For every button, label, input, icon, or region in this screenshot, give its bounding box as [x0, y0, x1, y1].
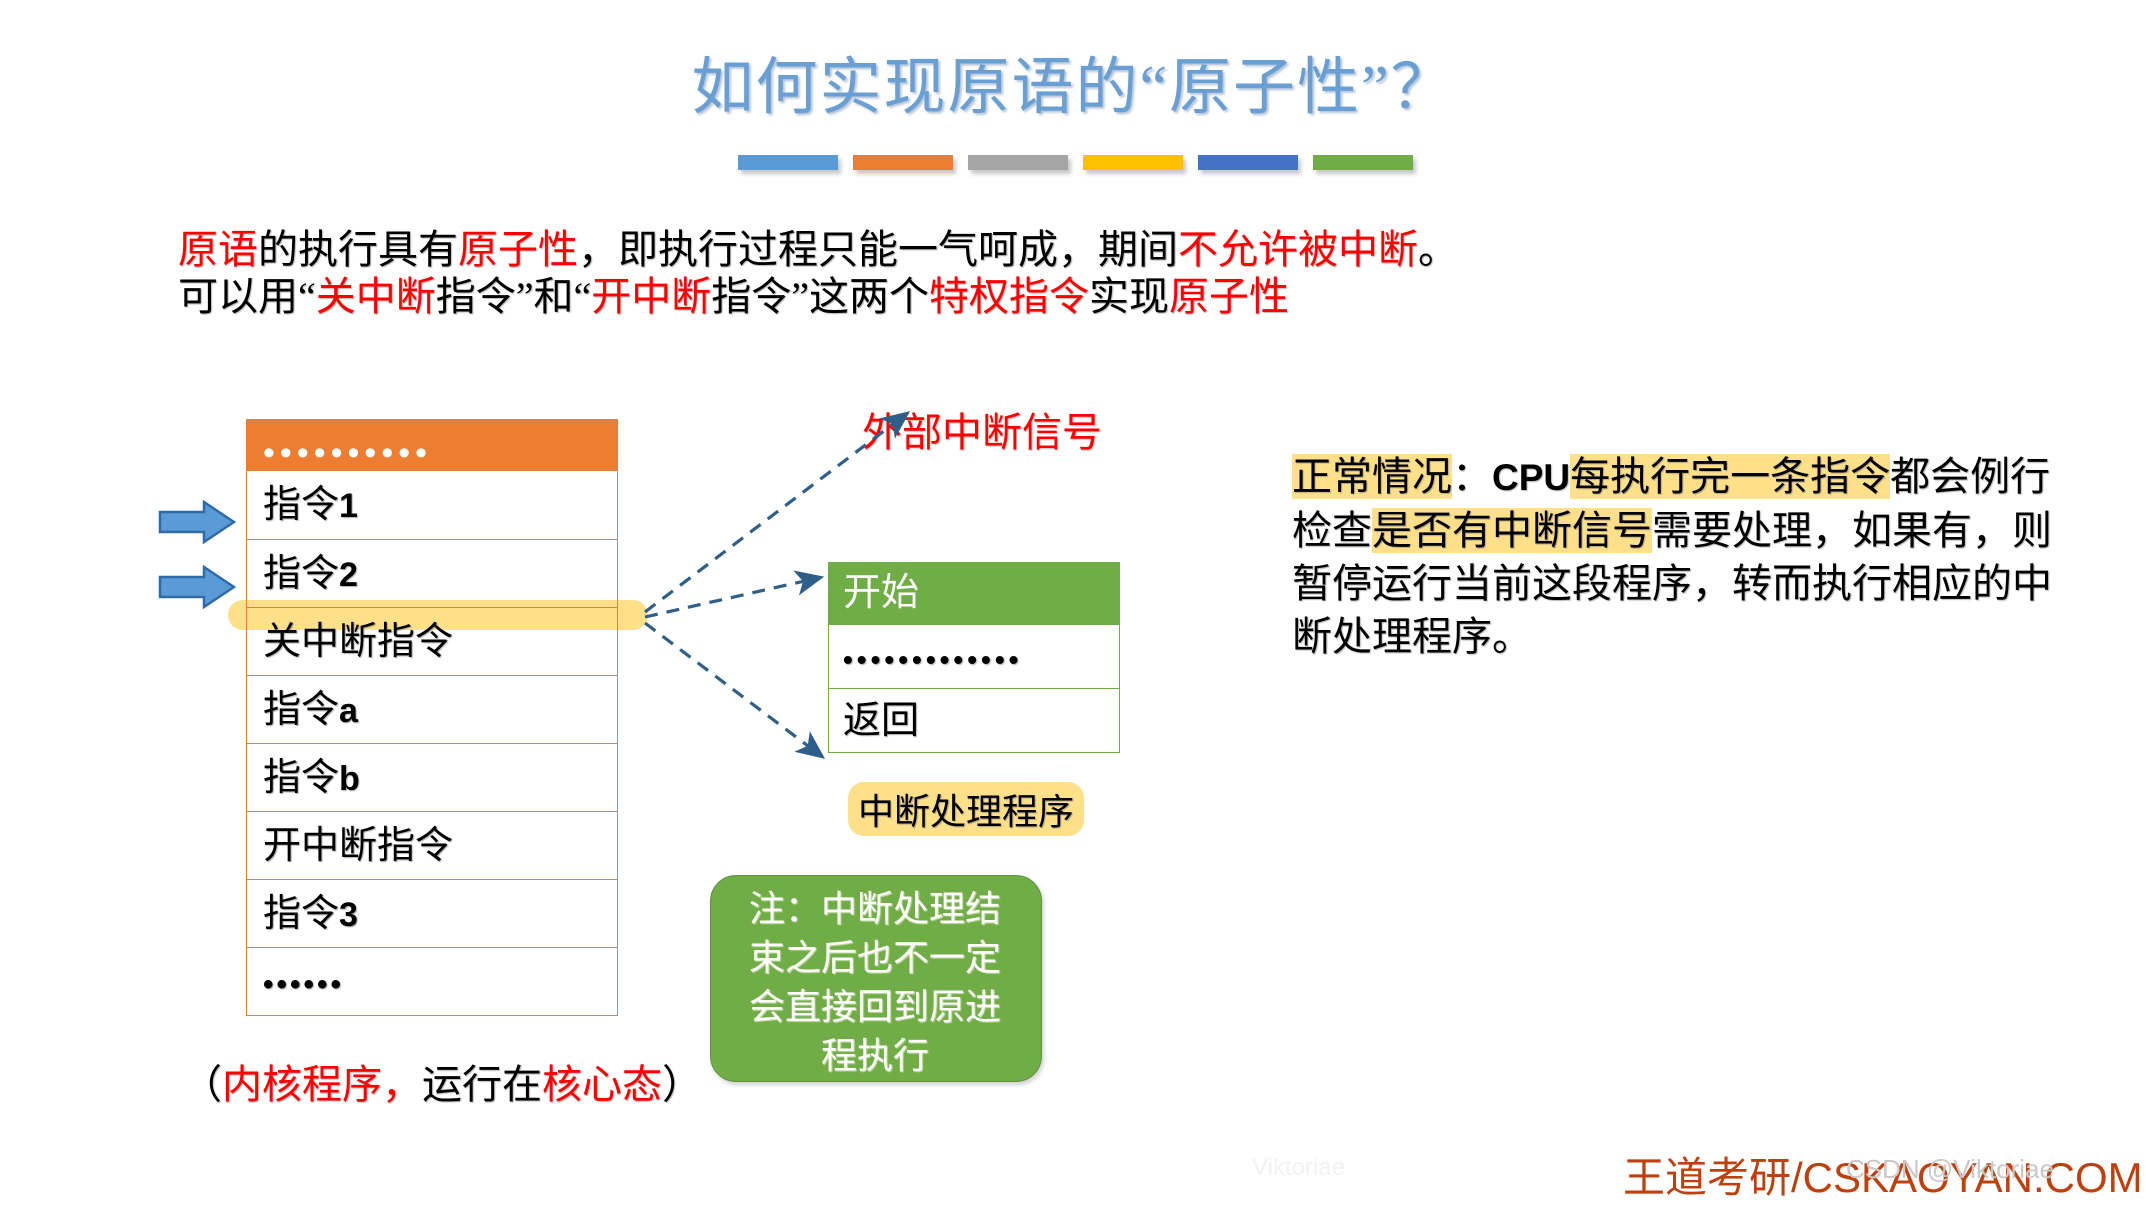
- explanation-paragraph: 正常情况：CPU每执行完一条指令都会例行检查是否有中断信号需要处理，如果有，则暂…: [1292, 450, 2052, 663]
- body-paragraph: 原语的执行具有原子性，即执行过程只能一气呵成，期间不允许被中断。 可以用“关中断…: [178, 226, 1518, 320]
- note-line-3: 程执行: [710, 1032, 1040, 1081]
- instruction-row: 指令1: [247, 471, 617, 539]
- text-run-1: 关中断: [316, 274, 436, 319]
- csdn-watermark: CSDN @Viktoriae: [1846, 1154, 2054, 1185]
- process-table-caption: （内核程序，运行在核心态）: [182, 1052, 702, 1110]
- row-ellipsis: •••••••••••••: [843, 644, 1022, 675]
- text-run-4: 不允许被中断: [1178, 227, 1418, 272]
- instruction-index: a: [339, 692, 358, 730]
- highlighted-text-run: 每执行完一条指令: [1570, 454, 1890, 499]
- instruction-row: 指令b: [247, 743, 617, 811]
- highlighted-text-run: 正常情况: [1292, 454, 1452, 499]
- instruction-index: 3: [339, 896, 358, 934]
- bar-gray: [968, 155, 1068, 170]
- instruction-label: 关中断指令: [263, 621, 453, 663]
- instruction-label: 开中断指令: [263, 825, 453, 867]
- page-title: 如何实现原语的“原子性”？: [0, 36, 2146, 126]
- text-run-1: 内核程序，: [222, 1062, 422, 1107]
- instruction-row: 指令3: [247, 879, 617, 947]
- text-run-4: 指令”这两个: [711, 274, 929, 319]
- note-line-0: 注：中断处理结: [710, 885, 1040, 934]
- bar-darkblue: [1198, 155, 1298, 170]
- bar-yellow: [1083, 155, 1183, 170]
- instruction-row: ••••••: [247, 947, 617, 1015]
- instruction-index: b: [339, 760, 360, 798]
- pointer-arrow-instruction-1: [158, 500, 236, 544]
- note-line-1: 束之后也不一定: [710, 934, 1040, 983]
- text-run-1: 的执行具有: [258, 227, 458, 272]
- accent-bar-row: [738, 155, 1398, 173]
- handler-table-caption: 中断处理程序: [848, 782, 1084, 836]
- bar-green: [1313, 155, 1413, 170]
- text-run-2: 指令”和“: [436, 274, 592, 319]
- instruction-label: 指令: [263, 757, 339, 799]
- instruction-label: 指令: [263, 484, 339, 526]
- highlighted-text-run: 是否有中断信号: [1372, 508, 1652, 553]
- instruction-row: 指令a: [247, 675, 617, 743]
- process-table-header: ••••••••••: [247, 419, 617, 471]
- instruction-row: 关中断指令: [247, 607, 617, 675]
- text-run-3: 开中断: [591, 274, 711, 319]
- dashed-arrow-to-note-bubble: [645, 623, 820, 755]
- text-run-4: ）: [662, 1062, 702, 1107]
- text-run-7: 原子性: [1169, 274, 1289, 319]
- text-run-5: 特权指令: [929, 274, 1089, 319]
- text-run-5: 。: [1418, 227, 1458, 272]
- bar-orange: [853, 155, 953, 170]
- slide-canvas: 如何实现原语的“原子性”？ 原语的执行具有原子性，即执行过程只能一气呵成，期间不…: [0, 0, 2146, 1196]
- handler-label: 返回: [843, 700, 919, 742]
- dashed-arrow-to-handler-table: [645, 578, 818, 617]
- handler-row: •••••••••••••: [829, 624, 1119, 688]
- text-run-1: ：: [1452, 454, 1492, 499]
- instruction-index: 1: [339, 487, 358, 525]
- text-run-2: 原子性: [458, 227, 578, 272]
- instruction-label: 指令: [263, 893, 339, 935]
- process-instruction-table: •••••••••• 指令1指令2关中断指令指令a指令b开中断指令指令3••••…: [246, 419, 618, 1016]
- pointer-arrow-instruction-2: [158, 565, 236, 609]
- body-line-2: 可以用“关中断指令”和“开中断指令”这两个特权指令实现原子性: [178, 273, 1518, 320]
- external-interrupt-signal-label: 外部中断信号: [862, 400, 1102, 458]
- body-line-1: 原语的执行具有原子性，即执行过程只能一气呵成，期间不允许被中断。: [178, 226, 1518, 273]
- text-run-3: 核心态: [542, 1062, 662, 1107]
- note-line-2: 会直接回到原进: [710, 983, 1040, 1032]
- instruction-row: 开中断指令: [247, 811, 617, 879]
- text-run-0: 可以用“: [178, 274, 316, 319]
- text-run-2: CPU: [1492, 457, 1570, 498]
- note-bubble-text: 注：中断处理结束之后也不一定会直接回到原进程执行: [710, 885, 1040, 1081]
- instruction-row: 指令2: [247, 539, 617, 607]
- instruction-index: 2: [339, 556, 358, 594]
- header-dots: ••••••••••: [263, 443, 432, 463]
- instruction-label: 指令: [263, 553, 339, 595]
- text-run-0: 原语: [178, 227, 258, 272]
- text-run-6: 实现: [1089, 274, 1169, 319]
- handler-table-header: 开始: [829, 562, 1119, 624]
- instruction-label: 指令: [263, 689, 339, 731]
- text-run-2: 运行在: [422, 1062, 542, 1107]
- handler-row: 返回: [829, 688, 1119, 752]
- watermark-faint: Viktoriae: [1252, 1154, 1345, 1182]
- row-ellipsis: ••••••: [263, 968, 344, 1001]
- interrupt-handler-table: 开始 •••••••••••••返回: [828, 562, 1120, 753]
- text-run-3: ，即执行过程只能一气呵成，期间: [578, 227, 1178, 272]
- text-run-0: （: [182, 1062, 222, 1107]
- bar-blue: [738, 155, 838, 170]
